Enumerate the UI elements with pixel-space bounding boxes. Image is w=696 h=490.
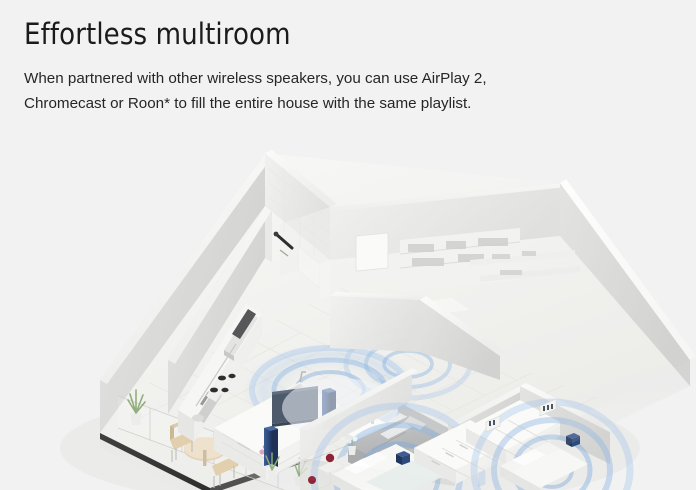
page-subtitle-line-2: Chromecast or Roon* to fill the entire h… xyxy=(24,91,599,116)
page-subtitle-line-1: When partnered with other wireless speak… xyxy=(24,66,599,91)
cookware xyxy=(192,414,204,421)
page-subtitle: When partnered with other wireless speak… xyxy=(24,52,599,116)
multiroom-illustration xyxy=(0,128,696,490)
wall-art xyxy=(356,233,388,271)
page-title: Effortless multiroom xyxy=(24,16,582,52)
text-block: Effortless multiroom When partnered with… xyxy=(24,16,644,116)
isometric-apartment-floorplan xyxy=(0,128,696,490)
door-frame xyxy=(320,260,330,300)
page-root: Effortless multiroom When partnered with… xyxy=(0,0,696,490)
rose-decor-1 xyxy=(326,454,334,462)
speaker-living-left xyxy=(264,426,278,467)
